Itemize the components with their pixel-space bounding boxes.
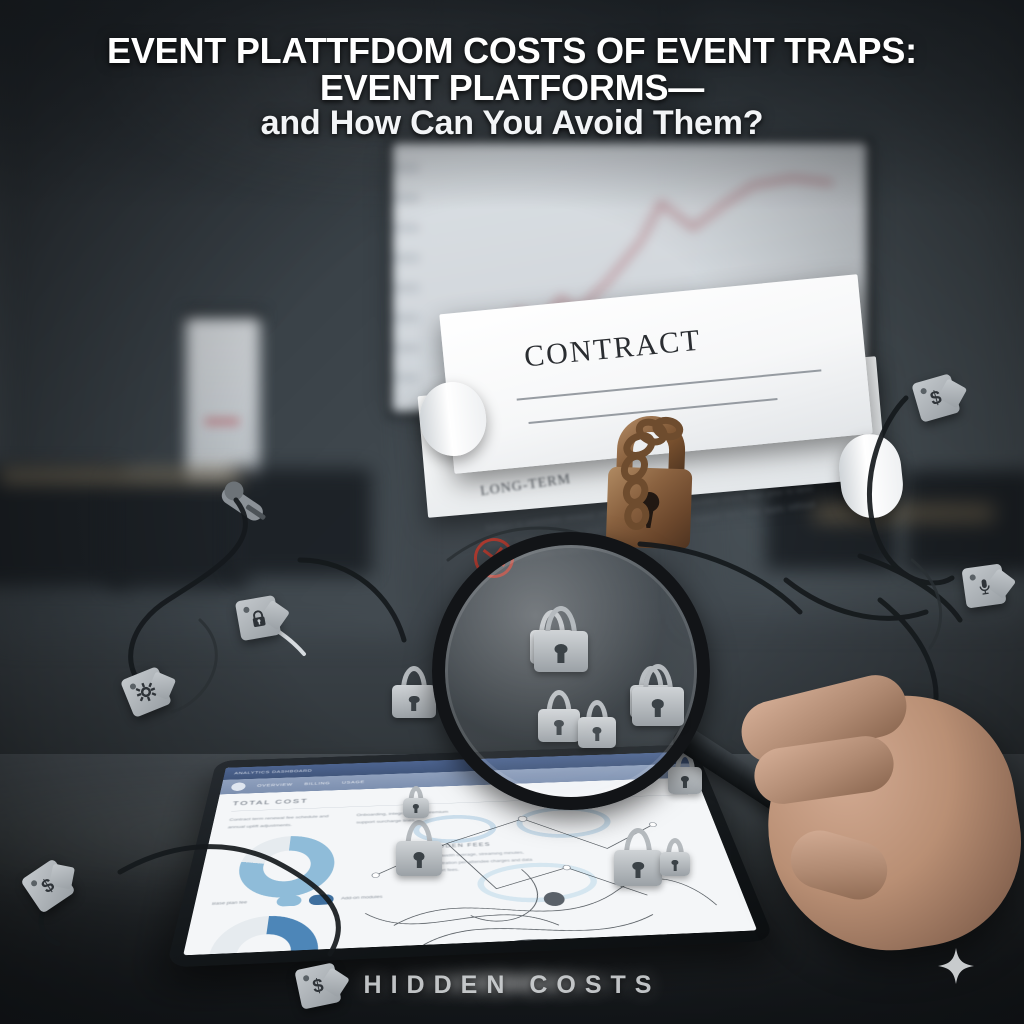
padlock-icon [396, 820, 442, 876]
dashboard-topbar-title: ANALYTICS DASHBOARD [234, 769, 312, 775]
padlock-icon [614, 828, 662, 886]
microphone-tag [961, 563, 1006, 608]
padlock-tag [235, 595, 281, 641]
tag-glyph-dollar: $ [928, 387, 943, 408]
gear-icon [133, 679, 159, 705]
title-line-3: and How Can You Avoid Them? [0, 106, 1024, 141]
flipchart-board [186, 318, 260, 490]
panel-column-1: Contract term renewal fee schedule and a… [227, 813, 333, 831]
title-line-1: EVENT PLATTFDOM COSTS OF EVENT TRAPS: [0, 32, 1024, 69]
padlock-icon [632, 664, 684, 726]
nav-item-billing[interactable]: BILLING [304, 782, 330, 786]
legend-swatch-2 [308, 894, 333, 905]
footer-label: HIDDEN COSTS [0, 971, 1024, 1000]
flipchart-marking [205, 418, 239, 425]
cloud-logo-icon [231, 782, 247, 791]
poster-title: EVENT PLATTFDOM COSTS OF EVENT TRAPS: EV… [0, 32, 1024, 141]
padlock-icon [534, 606, 588, 672]
microphone-icon [973, 575, 994, 596]
padlock-icon [660, 838, 690, 876]
poster-canvas: CONTRACT LONG-TERM Subject to automatic … [0, 0, 1024, 1024]
donut-chart-addons [201, 914, 321, 955]
legend-swatch-1 [276, 895, 302, 906]
total-cost-label: TOTAL COST [400, 946, 488, 955]
nav-item-overview[interactable]: OVERVIEW [257, 783, 293, 788]
donut-chart-base-plan [234, 834, 337, 899]
legend-label-1: Base plan fee [211, 898, 270, 908]
microphone-icon [214, 478, 304, 558]
sparkle-four-point-star-icon [938, 948, 974, 984]
nav-item-usage[interactable]: USAGE [342, 780, 365, 784]
hand-holding-magnifier [744, 676, 1024, 996]
title-line-2: EVENT PLATFORMS— [0, 69, 1024, 106]
paper-roll-right [836, 431, 906, 521]
padlock-icon [403, 786, 429, 818]
tag-glyph-dollar: $ [38, 875, 57, 897]
background-table [0, 468, 240, 484]
padlock-icon [392, 666, 436, 718]
padlock-icon [247, 607, 269, 629]
